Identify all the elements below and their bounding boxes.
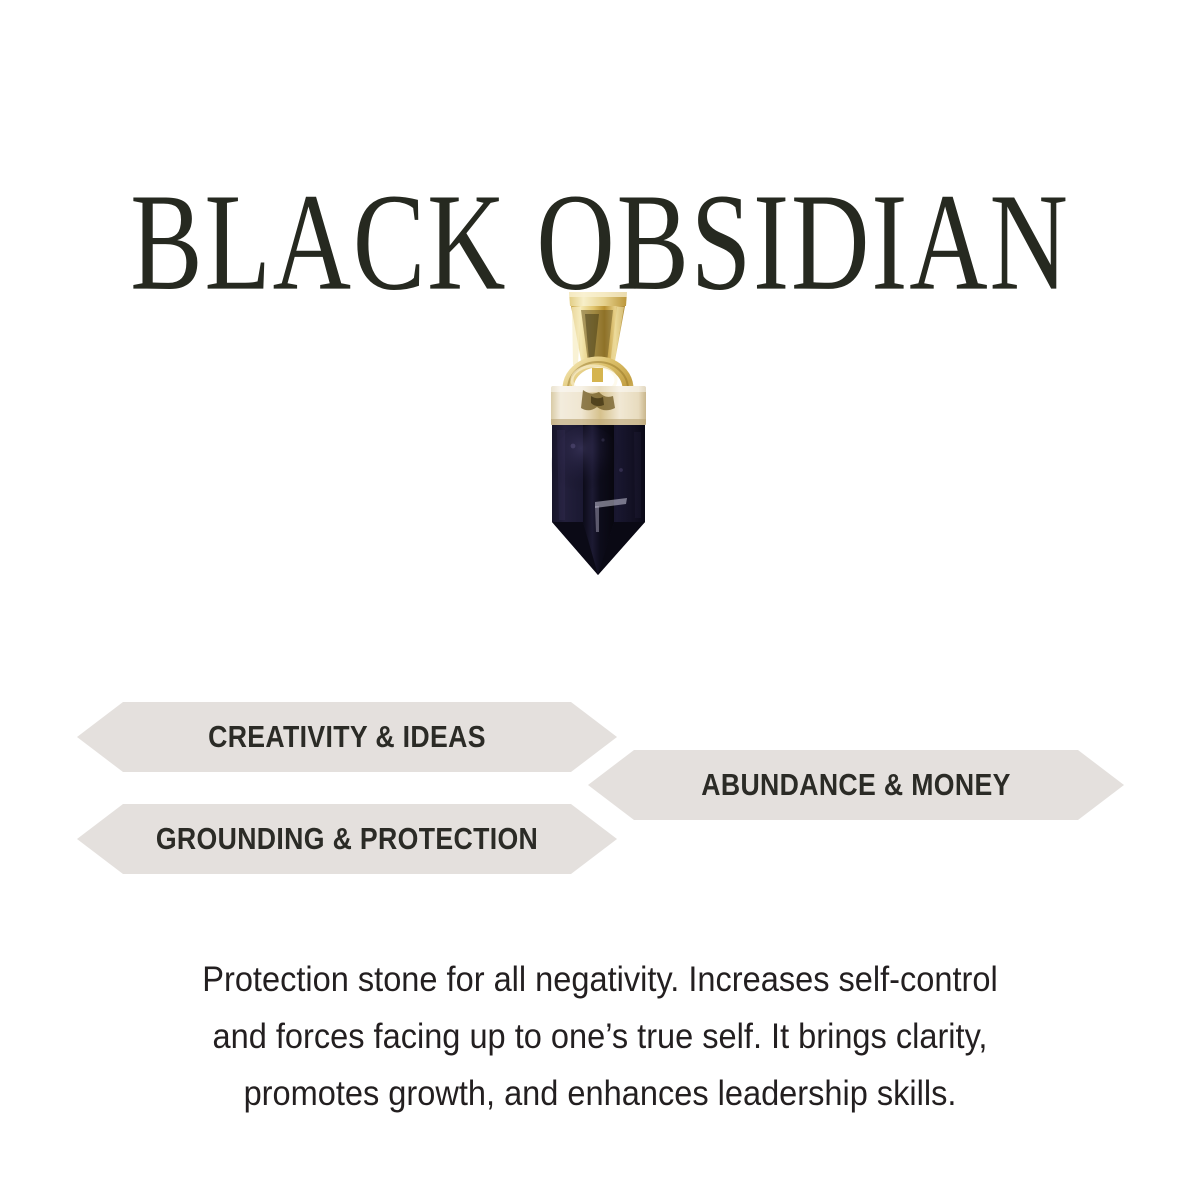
product-image-black-obsidian-pendant bbox=[495, 270, 705, 590]
property-banner-creativity-ideas: CREATIVITY & IDEAS bbox=[77, 702, 617, 772]
product-info-card: BLACK OBSIDIAN bbox=[0, 0, 1200, 1200]
property-banner-grounding-protection: GROUNDING & PROTECTION bbox=[77, 804, 617, 874]
gold-bail bbox=[569, 292, 627, 366]
property-banner-abundance-money: ABUNDANCE & MONEY bbox=[588, 750, 1124, 820]
product-description: Protection stone for all negativity. Inc… bbox=[172, 951, 1028, 1122]
gold-cap-band bbox=[551, 386, 646, 425]
property-banner-label: CREATIVITY & IDEAS bbox=[115, 719, 579, 755]
property-banner-label: GROUNDING & PROTECTION bbox=[115, 821, 579, 857]
black-obsidian-point bbox=[551, 425, 645, 575]
property-banner-label: ABUNDANCE & MONEY bbox=[626, 767, 1087, 803]
